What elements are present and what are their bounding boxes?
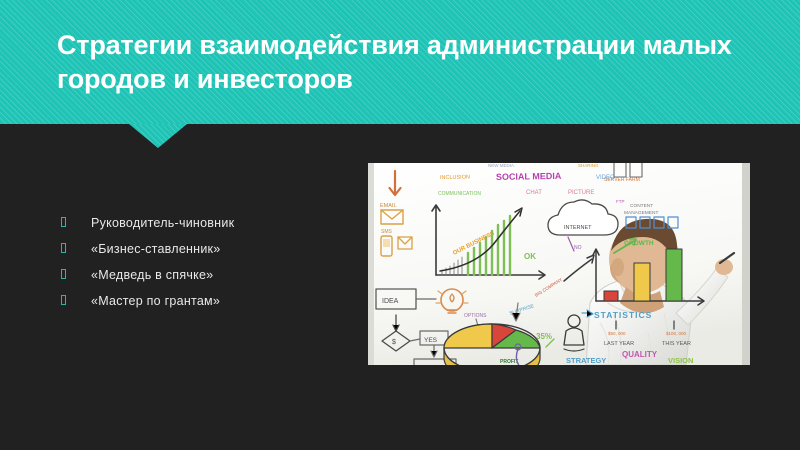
svg-text:$: $ bbox=[392, 339, 396, 346]
svg-text:LAST YEAR: LAST YEAR bbox=[604, 341, 634, 347]
svg-text:INCLUSION: INCLUSION bbox=[440, 174, 470, 181]
svg-text:$100, 000: $100, 000 bbox=[666, 331, 687, 336]
title-banner-notch-icon bbox=[129, 124, 187, 148]
hollow-square-bullet-icon bbox=[61, 217, 66, 227]
svg-text:NEW MEDIA: NEW MEDIA bbox=[488, 163, 514, 168]
svg-text:EMAIL: EMAIL bbox=[380, 203, 397, 209]
svg-text:OK: OK bbox=[524, 252, 536, 261]
svg-text:MANAGEMENT: MANAGEMENT bbox=[624, 210, 658, 216]
whiteboard-brainstorm-photo: INCLUSION SOCIAL MEDIA VIDEO COMMUNICATI… bbox=[368, 163, 750, 365]
bullet-list: Руководитель-чиновник «Бизнес-ставленник… bbox=[58, 210, 348, 314]
hollow-square-bullet-icon bbox=[61, 243, 66, 253]
svg-text:QUALITY: QUALITY bbox=[622, 350, 658, 359]
list-item: «Медведь в спячке» bbox=[58, 262, 348, 288]
svg-text:IDEA: IDEA bbox=[382, 298, 399, 305]
svg-text:PROFIT: PROFIT bbox=[500, 359, 518, 365]
svg-text:CONTENT: CONTENT bbox=[630, 203, 653, 209]
svg-text:FTP: FTP bbox=[616, 199, 625, 204]
svg-text:SERVER FARM: SERVER FARM bbox=[604, 177, 640, 183]
svg-text:SMS: SMS bbox=[381, 229, 393, 235]
hollow-square-bullet-icon bbox=[61, 295, 66, 305]
hollow-square-bullet-icon bbox=[61, 269, 66, 279]
list-item: «Мастер по грантам» bbox=[58, 288, 348, 314]
page-title: Стратегии взаимодействия администрации м… bbox=[57, 28, 767, 96]
svg-text:PICTURE: PICTURE bbox=[568, 190, 594, 196]
svg-text:STRATEGY: STRATEGY bbox=[566, 356, 606, 365]
svg-text:OPTIONS: OPTIONS bbox=[464, 313, 487, 319]
svg-text:YES: YES bbox=[424, 337, 438, 344]
svg-text:COMMUNICATION: COMMUNICATION bbox=[438, 191, 481, 197]
list-item-label: «Мастер по грантам» bbox=[91, 294, 220, 308]
svg-text:NO: NO bbox=[574, 245, 582, 251]
list-item-label: «Бизнес-ставленник» bbox=[91, 242, 220, 256]
list-item: «Бизнес-ставленник» bbox=[58, 236, 348, 262]
list-item-label: «Медведь в спячке» bbox=[91, 268, 213, 282]
svg-text:$50, 000: $50, 000 bbox=[608, 331, 626, 336]
svg-text:THIS YEAR: THIS YEAR bbox=[662, 341, 691, 347]
svg-text:SOCIAL MEDIA: SOCIAL MEDIA bbox=[496, 171, 562, 182]
list-item: Руководитель-чиновник bbox=[58, 210, 348, 236]
svg-text:CHAT: CHAT bbox=[526, 190, 542, 196]
list-item-label: Руководитель-чиновник bbox=[91, 216, 234, 230]
svg-text:INTERNET: INTERNET bbox=[564, 225, 592, 231]
svg-text:VISION: VISION bbox=[668, 356, 693, 365]
svg-text:35%: 35% bbox=[536, 332, 552, 341]
svg-text:STATISTICS: STATISTICS bbox=[594, 310, 652, 320]
svg-text:SHARING: SHARING bbox=[578, 163, 599, 168]
presentation-slide: Стратегии взаимодействия администрации м… bbox=[0, 0, 800, 450]
